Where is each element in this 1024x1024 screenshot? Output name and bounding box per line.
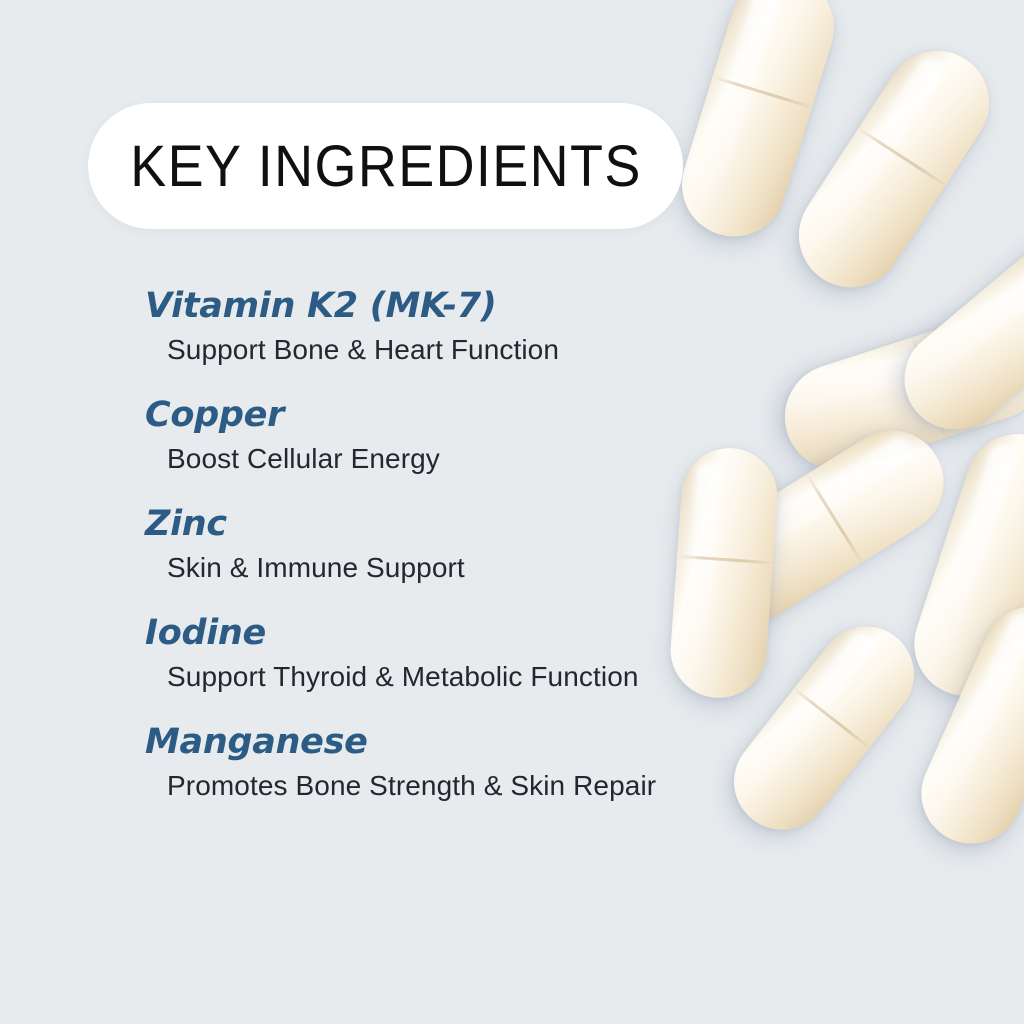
page-title-pill: KEY INGREDIENTS <box>88 103 683 229</box>
ingredient-name: Vitamin K2 (MK-7) <box>145 286 785 327</box>
page-title: KEY INGREDIENTS <box>130 133 642 200</box>
ingredient-description: Support Thyroid & Metabolic Function <box>167 660 785 694</box>
capsule <box>901 421 1024 710</box>
ingredient-description: Boost Cellular Energy <box>167 442 785 476</box>
capsule <box>905 590 1024 859</box>
ingredient-item: Zinc Skin & Immune Support <box>145 504 785 585</box>
key-ingredients-graphic: KEY INGREDIENTS Vitamin K2 (MK-7) Suppor… <box>0 0 1024 1024</box>
ingredient-name: Manganese <box>145 722 785 763</box>
ingredient-description: Promotes Bone Strength & Skin Repair <box>167 769 785 803</box>
ingredient-list: Vitamin K2 (MK-7) Support Bone & Heart F… <box>145 286 785 830</box>
capsule <box>779 31 1009 307</box>
ingredient-name: Iodine <box>145 613 785 654</box>
ingredient-item: Copper Boost Cellular Energy <box>145 395 785 476</box>
ingredient-description: Support Bone & Heart Function <box>167 333 785 367</box>
ingredient-item: Vitamin K2 (MK-7) Support Bone & Heart F… <box>145 286 785 367</box>
capsule <box>771 300 1024 484</box>
ingredient-name: Copper <box>145 395 785 436</box>
ingredient-description: Skin & Immune Support <box>167 551 785 585</box>
capsule <box>884 212 1024 449</box>
capsule <box>669 0 847 249</box>
ingredient-item: Iodine Support Thyroid & Metabolic Funct… <box>145 613 785 694</box>
ingredient-name: Zinc <box>145 504 785 545</box>
ingredient-item: Manganese Promotes Bone Strength & Skin … <box>145 722 785 803</box>
